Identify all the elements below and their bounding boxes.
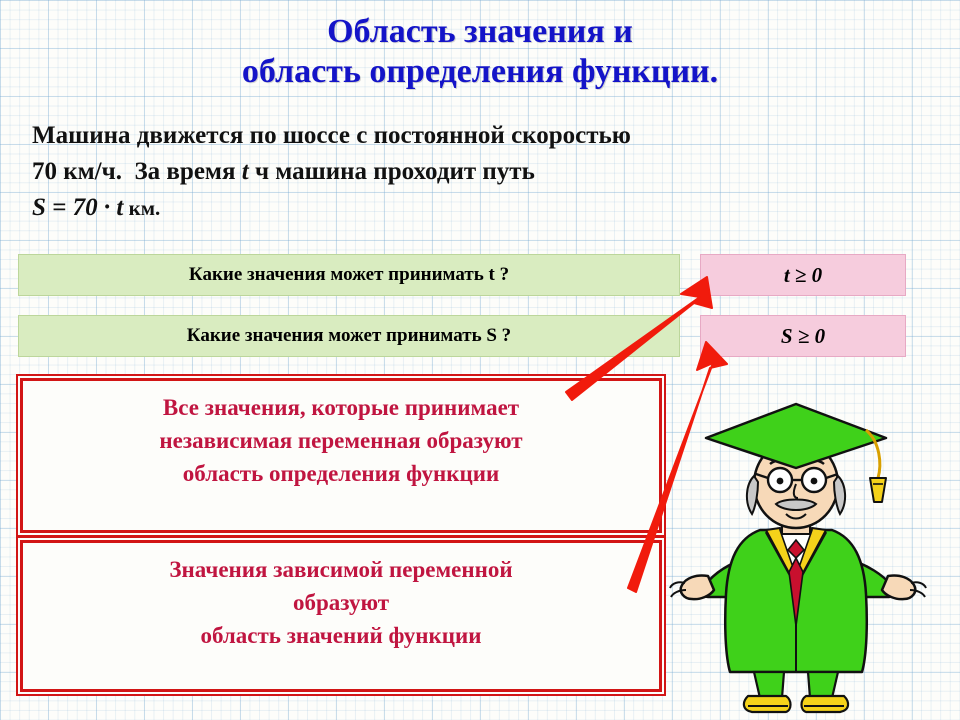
definition-range-line-2: образуют <box>23 586 659 619</box>
definition-box-domain: Все значения, которые принимает независи… <box>20 378 662 533</box>
answer-box-t: t ≥ 0 <box>700 254 906 296</box>
definition-range-line-3: область значений функции <box>23 619 659 652</box>
page-title: Область значения и область определения ф… <box>0 12 960 92</box>
professor-illustration <box>630 380 960 720</box>
title-line-2: область определения функции. <box>0 52 960 92</box>
answer-box-s: S ≥ 0 <box>700 315 906 357</box>
definition-range-line-1: Значения зависимой переменной <box>23 553 659 586</box>
problem-statement: Машина движется по шоссе с постоянной ск… <box>32 118 932 226</box>
slide-canvas: Область значения и область определения ф… <box>0 0 960 720</box>
question-box-s-label: Какие значения может принимать S ? <box>187 325 511 347</box>
title-line-1: Область значения и <box>327 13 633 50</box>
formula-unit: км. <box>123 196 160 220</box>
formula-t: t <box>110 194 123 221</box>
answer-box-t-label: t ≥ 0 <box>784 263 822 288</box>
definition-box-range: Значения зависимой переменной образуют о… <box>20 540 662 692</box>
question-box-t-label: Какие значения может принимать t ? <box>189 264 509 286</box>
question-box-t: Какие значения может принимать t ? <box>18 254 680 296</box>
definition-domain-line-2: независимая переменная образуют <box>23 424 659 457</box>
problem-line-2-part-b: ч машина проходит путь <box>249 158 535 185</box>
definition-domain-line-1: Все значения, которые принимает <box>23 391 659 424</box>
answer-box-s-label: S ≥ 0 <box>781 324 825 349</box>
problem-line-2: 70 км/ч. За время t ч машина проходит пу… <box>32 154 932 190</box>
question-box-s: Какие значения может принимать S ? <box>18 315 680 357</box>
formula-s-equals: S = 70 <box>32 194 104 221</box>
problem-line-1: Машина движется по шоссе с постоянной ск… <box>32 118 932 154</box>
problem-line-3: S = 70 · t км. <box>32 190 932 226</box>
problem-line-2-part-a: 70 км/ч. За время <box>32 158 242 185</box>
definition-domain-line-3: область определения функции <box>23 457 659 490</box>
variable-t: t <box>242 158 249 185</box>
